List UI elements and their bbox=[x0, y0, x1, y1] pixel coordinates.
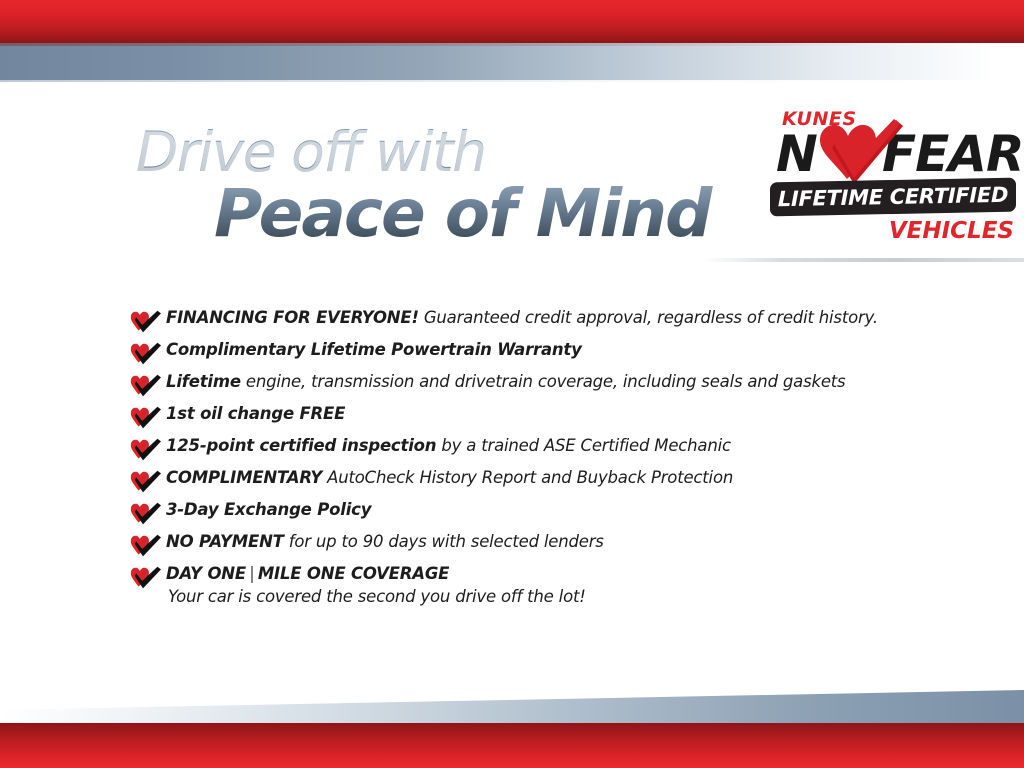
heart-check-icon bbox=[130, 342, 162, 366]
heart-check-icon bbox=[130, 406, 162, 430]
heart-check-icon bbox=[130, 502, 162, 526]
list-item-text: NO PAYMENT for up to 90 days with select… bbox=[166, 532, 960, 552]
list-item-body: COMPLIMENTARY AutoCheck History Report a… bbox=[166, 468, 960, 488]
heart-check-icon bbox=[130, 534, 162, 558]
list-item-text: Lifetime engine, transmission and drivet… bbox=[166, 372, 960, 392]
list-item-body: DAY ONE|MILE ONE COVERAGE Your car is co… bbox=[166, 564, 960, 608]
headline-divider bbox=[702, 258, 1024, 262]
list-item-body: NO PAYMENT for up to 90 days with select… bbox=[166, 532, 960, 552]
promo-poster: Drive off with Peace of Mind KUNES N FEA… bbox=[0, 0, 1024, 768]
list-item-text: DAY ONE|MILE ONE COVERAGE bbox=[166, 564, 960, 584]
list-item: 1st oil change FREE bbox=[130, 404, 960, 436]
list-item-lead: DAY ONE bbox=[166, 564, 246, 583]
list-item-text: 1st oil change FREE bbox=[166, 404, 960, 424]
list-item-body: Lifetime engine, transmission and drivet… bbox=[166, 372, 960, 392]
list-item: COMPLIMENTARY AutoCheck History Report a… bbox=[130, 468, 960, 500]
list-item-text: 3-Day Exchange Policy bbox=[166, 500, 960, 520]
list-item-subtext: Your car is covered the second you drive… bbox=[168, 586, 960, 608]
logo-lifetime-certified-text: LIFETIME CERTIFIED bbox=[770, 178, 1016, 217]
list-item: DAY ONE|MILE ONE COVERAGE Your car is co… bbox=[130, 564, 960, 608]
logo-letter-n: N bbox=[776, 126, 817, 182]
bottom-red-band bbox=[0, 723, 1024, 768]
list-item-rest: by a trained ASE Certified Mechanic bbox=[436, 436, 731, 455]
headline-block: Drive off with Peace of Mind bbox=[136, 122, 756, 250]
benefits-list: FINANCING FOR EVERYONE! Guaranteed credi… bbox=[130, 308, 960, 608]
headline-line-2: Peace of Mind bbox=[214, 178, 756, 250]
list-item-body: 1st oil change FREE bbox=[166, 404, 960, 424]
list-item: Lifetime engine, transmission and drivet… bbox=[130, 372, 960, 404]
heart-check-icon bbox=[130, 566, 162, 590]
bottom-steel-band bbox=[0, 690, 1024, 726]
list-item-text: FINANCING FOR EVERYONE! Guaranteed credi… bbox=[166, 308, 960, 328]
list-item: 125-point certified inspection by a trai… bbox=[130, 436, 960, 468]
logo-wordmark: N FEAR bbox=[776, 126, 1016, 184]
list-item-lead: FINANCING FOR EVERYONE! bbox=[166, 308, 419, 327]
logo-vehicles-text: VEHICLES bbox=[889, 218, 1014, 244]
list-item-rest: AutoCheck History Report and Buyback Pro… bbox=[322, 468, 733, 487]
list-item-lead: 1st oil change FREE bbox=[166, 404, 345, 423]
list-item-lead: 3-Day Exchange Policy bbox=[166, 500, 371, 519]
logo-lifetime-bar: LIFETIME CERTIFIED bbox=[770, 178, 1016, 217]
list-item-lead-2: MILE ONE COVERAGE bbox=[258, 564, 449, 583]
list-item-text: Complimentary Lifetime Powertrain Warran… bbox=[166, 340, 960, 360]
top-red-band bbox=[0, 0, 1024, 43]
list-item: Complimentary Lifetime Powertrain Warran… bbox=[130, 340, 960, 372]
list-item-text: COMPLIMENTARY AutoCheck History Report a… bbox=[166, 468, 960, 488]
list-item-body: 125-point certified inspection by a trai… bbox=[166, 436, 960, 456]
list-item: FINANCING FOR EVERYONE! Guaranteed credi… bbox=[130, 308, 960, 340]
list-item-body: Complimentary Lifetime Powertrain Warran… bbox=[166, 340, 960, 360]
kunes-no-fear-logo: KUNES N FEAR LIFETIME CERTIFIED VEHICLES bbox=[770, 108, 1018, 248]
headline-line-1: Drive off with bbox=[136, 122, 756, 182]
list-item: NO PAYMENT for up to 90 days with select… bbox=[130, 532, 960, 564]
list-item: 3-Day Exchange Policy bbox=[130, 500, 960, 532]
list-item-lead: Complimentary Lifetime Powertrain Warran… bbox=[166, 340, 582, 359]
heart-check-icon bbox=[130, 374, 162, 398]
list-item-body: 3-Day Exchange Policy bbox=[166, 500, 960, 520]
list-item-rest: Guaranteed credit approval, regardless o… bbox=[419, 308, 878, 327]
list-item-separator: | bbox=[246, 564, 258, 583]
list-item-lead: COMPLIMENTARY bbox=[166, 468, 322, 487]
heart-check-icon bbox=[130, 438, 162, 462]
heart-check-icon bbox=[130, 310, 162, 334]
list-item-rest: for up to 90 days with selected lenders bbox=[284, 532, 604, 551]
top-steel-band bbox=[0, 43, 1024, 82]
list-item-lead: Lifetime bbox=[166, 372, 241, 391]
list-item-text: 125-point certified inspection by a trai… bbox=[166, 436, 960, 456]
heart-check-icon bbox=[130, 470, 162, 494]
list-item-rest: engine, transmission and drivetrain cove… bbox=[241, 372, 846, 391]
list-item-lead: NO PAYMENT bbox=[166, 532, 284, 551]
list-item-lead: 125-point certified inspection bbox=[166, 436, 436, 455]
list-item-body: FINANCING FOR EVERYONE! Guaranteed credi… bbox=[166, 308, 960, 328]
